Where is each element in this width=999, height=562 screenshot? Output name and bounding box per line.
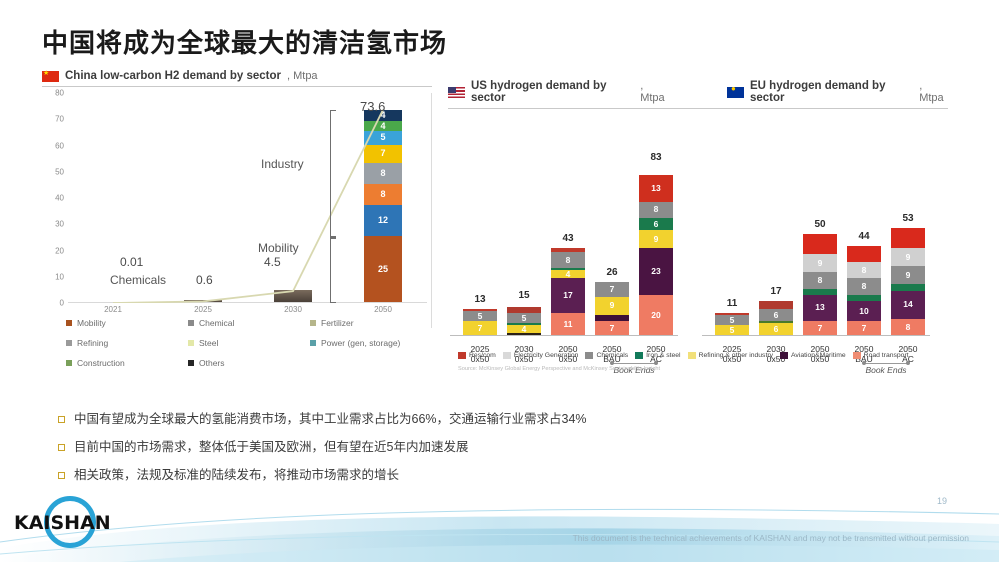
us-segment-iron-steel: 6 — [639, 218, 673, 230]
eu-bookends-line — [864, 363, 908, 364]
kaishan-logo: KAISHAN — [8, 496, 132, 548]
china-legend-label: Power (gen, storage) — [321, 338, 400, 348]
eu-segment-chemicals: 9 — [891, 266, 925, 284]
us-segment-chemicals: 5 — [463, 311, 497, 321]
us-eu-legend-item: Road transport — [853, 352, 909, 359]
china-annotation-industry: Industry — [261, 157, 304, 171]
us-eu-legend-label: Refining & other industry — [699, 352, 773, 359]
eu-chart-title: EU hydrogen demand by sector — [750, 80, 913, 104]
china-brace-mobility — [330, 237, 331, 303]
china-value-2021: 0.01 — [120, 255, 143, 269]
us-total-label: 15 — [507, 290, 541, 301]
china-annotation-chemicals: Chemicals — [110, 273, 166, 287]
eu-bar-2025-0x50: 55 — [715, 313, 749, 335]
china-bars-area: 25128875440.01Chemicals0.64.573.6Industr… — [68, 93, 427, 303]
china-y-tick: 0 — [60, 299, 64, 308]
chart-source: Source: McKinsey Global Energy Perspecti… — [458, 366, 660, 372]
bullet-item: 目前中国的市场需求，整体低于美国及欧洲，但有望在近5年内加速发展 — [58, 440, 758, 455]
us-segment-chemicals: 7 — [595, 282, 629, 296]
page-title: 中国将成为全球最大的清洁氢市场 — [42, 23, 447, 60]
footer-wave-decoration — [0, 484, 999, 562]
china-chart-header: China low-carbon H2 demand by sector , M… — [42, 70, 432, 87]
us-total-label: 26 — [595, 267, 629, 278]
eu-segment-refining-other-industry: 5 — [715, 325, 749, 335]
legend-swatch-icon — [310, 320, 316, 326]
eu-segment-road-transport: 7 — [803, 321, 837, 335]
china-value-2050: 73.6 — [360, 99, 385, 114]
eu-segment-electricity-generation: 9 — [803, 254, 837, 272]
china-legend: MobilityChemicalFertilizerRefiningSteelP… — [66, 318, 432, 368]
us-total-label: 13 — [463, 294, 497, 305]
china-y-tick: 20 — [55, 246, 64, 255]
us-eu-headers: US hydrogen demand by sector , Mtpa EU h… — [448, 80, 948, 109]
china-legend-item: Power (gen, storage) — [310, 338, 432, 348]
us-segment-refining-other-industry: 4 — [551, 270, 585, 278]
us-bookends-line — [612, 363, 656, 364]
eu-segment-res-com — [847, 246, 881, 262]
legend-swatch-icon — [635, 352, 643, 359]
eu-segment-chemicals: 8 — [847, 278, 881, 294]
legend-swatch-icon — [188, 360, 194, 366]
legend-swatch-icon — [853, 352, 861, 359]
us-eu-legend-item: Aviation&Maritime — [780, 352, 846, 359]
eu-segment-road-transport: 7 — [847, 321, 881, 335]
eu-axis-line — [702, 335, 930, 336]
eu-total-label: 44 — [847, 231, 881, 242]
bullet-square-icon — [58, 416, 65, 423]
eu-total-label: 50 — [803, 219, 837, 230]
china-legend-label: Fertilizer — [321, 318, 354, 328]
us-eu-legend-label: Res/com — [469, 352, 496, 359]
us-segment-chemicals: 8 — [551, 252, 585, 268]
us-segment-refining-other-industry: 9 — [595, 297, 629, 315]
eu-chart-group: 551120250x50661720300x50713895020500x507… — [700, 119, 930, 369]
eu-segment-chemicals: 8 — [803, 272, 837, 288]
us-flag-icon — [448, 87, 465, 98]
china-annotation-mobility: Mobility — [258, 241, 299, 255]
us-bar-2050-0x50: 111748 — [551, 248, 585, 335]
bullet-text: 中国有望成为全球最大的氢能消费市场，其中工业需求占比为66%，交通运输行业需求占… — [74, 412, 587, 427]
us-eu-legend: Res/comElectricity GenerationChemicalsIr… — [458, 352, 948, 359]
bullet-item: 相关政策，法规及标准的陆续发布，将推动市场需求的增长 — [58, 468, 758, 483]
page-number: 19 — [937, 496, 947, 506]
china-brace-industry — [330, 110, 331, 238]
us-segment-road-transport: 7 — [595, 321, 629, 335]
eu-total-label: 53 — [891, 213, 925, 224]
us-eu-legend-label: Iron & steel — [646, 352, 680, 359]
china-x-tick: 2050 — [374, 305, 392, 314]
eu-chart-unit: , Mtpa — [919, 80, 948, 104]
eu-total-label: 11 — [715, 298, 749, 309]
eu-segment-aviation-maritime: 14 — [891, 291, 925, 319]
us-total-label: 83 — [639, 152, 673, 163]
us-chart-header: US hydrogen demand by sector , Mtpa — [448, 80, 669, 104]
us-eu-legend-label: Aviation&Maritime — [791, 352, 846, 359]
legend-swatch-icon — [458, 352, 466, 359]
slide-footer: KAISHAN 19 This document is the technica… — [0, 484, 999, 562]
legend-swatch-icon — [503, 352, 511, 359]
us-bar-2050-AC: 202396813 — [639, 167, 673, 335]
china-y-tick: 40 — [55, 194, 64, 203]
us-segment-chemicals: 5 — [507, 313, 541, 323]
us-eu-legend-item: Refining & other industry — [688, 352, 773, 359]
eu-segment-aviation-maritime: 13 — [803, 295, 837, 321]
eu-segment-road-transport: 8 — [891, 319, 925, 335]
us-segment-aviation-maritime: 23 — [639, 248, 673, 295]
us-eu-plot-area: 751320250x50451520300x501117484320500x50… — [448, 119, 948, 369]
china-y-tick: 30 — [55, 220, 64, 229]
china-legend-item: Others — [188, 358, 310, 368]
eu-segment-res-com — [891, 228, 925, 248]
bullet-square-icon — [58, 444, 65, 451]
footer-disclaimer: This document is the technical achieveme… — [573, 533, 969, 543]
china-plot-area: 80706050403020100 25128875440.01Chemical… — [42, 93, 432, 328]
us-chart-title: US hydrogen demand by sector — [471, 80, 634, 104]
eu-segment-res-com — [759, 301, 793, 309]
eu-flag-icon — [727, 87, 744, 98]
eu-segment-refining-other-industry: 6 — [759, 323, 793, 335]
us-segment-aviation-maritime: 17 — [551, 278, 585, 312]
legend-swatch-icon — [188, 320, 194, 326]
eu-bar-2050-AC: 81499 — [891, 228, 925, 335]
legend-swatch-icon — [780, 352, 788, 359]
china-y-axis: 80706050403020100 — [42, 93, 66, 303]
china-chart-title: China low-carbon H2 demand by sector — [65, 70, 281, 82]
china-y-tick: 50 — [55, 167, 64, 176]
eu-segment-electricity-generation: 9 — [891, 248, 925, 266]
us-segment-chemicals: 8 — [639, 202, 673, 218]
legend-swatch-icon — [310, 340, 316, 346]
us-segment-res-com: 13 — [639, 175, 673, 201]
eu-bar-2050-BAU: 71088 — [847, 246, 881, 335]
china-y-tick: 80 — [55, 89, 64, 98]
legend-swatch-icon — [66, 320, 72, 326]
us-segment-refining-other-industry: 9 — [639, 230, 673, 248]
china-legend-label: Others — [199, 358, 225, 368]
us-eu-legend-label: Electricity Generation — [514, 352, 579, 359]
us-segment-road-transport: 7 — [463, 321, 497, 335]
eu-total-label: 17 — [759, 286, 793, 297]
us-eu-legend-item: Chemicals — [585, 352, 628, 359]
china-chart-unit: , Mtpa — [287, 70, 318, 82]
china-legend-label: Steel — [199, 338, 218, 348]
china-y-tick: 70 — [55, 115, 64, 124]
eu-segment-res-com — [803, 234, 837, 254]
us-segment-road-transport — [507, 333, 541, 335]
us-eu-legend-item: Res/com — [458, 352, 496, 359]
china-legend-label: Construction — [77, 358, 125, 368]
china-x-tick: 2021 — [104, 305, 122, 314]
eu-bar-2030-0x50: 66 — [759, 301, 793, 335]
china-legend-item: Steel — [188, 338, 310, 348]
bullet-square-icon — [58, 472, 65, 479]
china-legend-item: Fertilizer — [310, 318, 432, 328]
eu-segment-aviation-maritime: 10 — [847, 301, 881, 321]
us-segment-road-transport: 20 — [639, 295, 673, 335]
us-segment-refining-other-industry: 4 — [507, 325, 541, 333]
eu-segment-chemicals: 5 — [715, 315, 749, 325]
legend-swatch-icon — [66, 360, 72, 366]
china-trend-line — [68, 93, 428, 303]
china-y-tick: 60 — [55, 141, 64, 150]
china-chart-panel: China low-carbon H2 demand by sector , M… — [42, 70, 432, 395]
us-bar-2030-0x50: 45 — [507, 305, 541, 335]
eu-segment-electricity-generation: 8 — [847, 262, 881, 278]
us-chart-unit: , Mtpa — [640, 80, 669, 104]
us-eu-chart-panel: US hydrogen demand by sector , Mtpa EU h… — [448, 80, 948, 390]
china-legend-item: Refining — [66, 338, 188, 348]
us-eu-legend-item: Electricity Generation — [503, 352, 579, 359]
china-value-2030: 4.5 — [264, 255, 281, 269]
us-bar-2050-BAU: 797 — [595, 282, 629, 335]
eu-bar-2050-0x50: 71389 — [803, 234, 837, 335]
us-axis-line — [450, 335, 678, 336]
logo-wordmark: KAISHAN — [14, 512, 111, 534]
eu-bookends-label: Book Ends — [844, 365, 928, 375]
china-legend-item: Chemical — [188, 318, 310, 328]
us-eu-legend-item: Iron & steel — [635, 352, 680, 359]
eu-chart-header: EU hydrogen demand by sector , Mtpa — [727, 80, 948, 104]
china-value-2025: 0.6 — [196, 273, 213, 287]
china-x-tick: 2025 — [194, 305, 212, 314]
china-x-tick: 2030 — [284, 305, 302, 314]
legend-swatch-icon — [66, 340, 72, 346]
us-chart-group: 751320250x50451520300x501117484320500x50… — [448, 119, 678, 369]
us-total-label: 43 — [551, 233, 585, 244]
us-bar-2025-0x50: 75 — [463, 309, 497, 335]
china-legend-item: Construction — [66, 358, 188, 368]
china-legend-label: Chemical — [199, 318, 234, 328]
eu-segment-chemicals: 6 — [759, 309, 793, 321]
china-y-tick: 10 — [55, 272, 64, 281]
china-legend-label: Refining — [77, 338, 108, 348]
china-legend-item: Mobility — [66, 318, 188, 328]
bullet-item: 中国有望成为全球最大的氢能消费市场，其中工业需求占比为66%，交通运输行业需求占… — [58, 412, 758, 427]
bullet-text: 目前中国的市场需求，整体低于美国及欧洲，但有望在近5年内加速发展 — [74, 440, 468, 455]
bullet-text: 相关政策，法规及标准的陆续发布，将推动市场需求的增长 — [74, 468, 399, 483]
legend-swatch-icon — [585, 352, 593, 359]
cn-flag-icon — [42, 71, 59, 82]
china-legend-label: Mobility — [77, 318, 106, 328]
us-eu-legend-label: Road transport — [864, 352, 909, 359]
legend-swatch-icon — [188, 340, 194, 346]
us-segment-road-transport: 11 — [551, 313, 585, 335]
us-eu-legend-label: Chemicals — [596, 352, 628, 359]
legend-swatch-icon — [688, 352, 696, 359]
